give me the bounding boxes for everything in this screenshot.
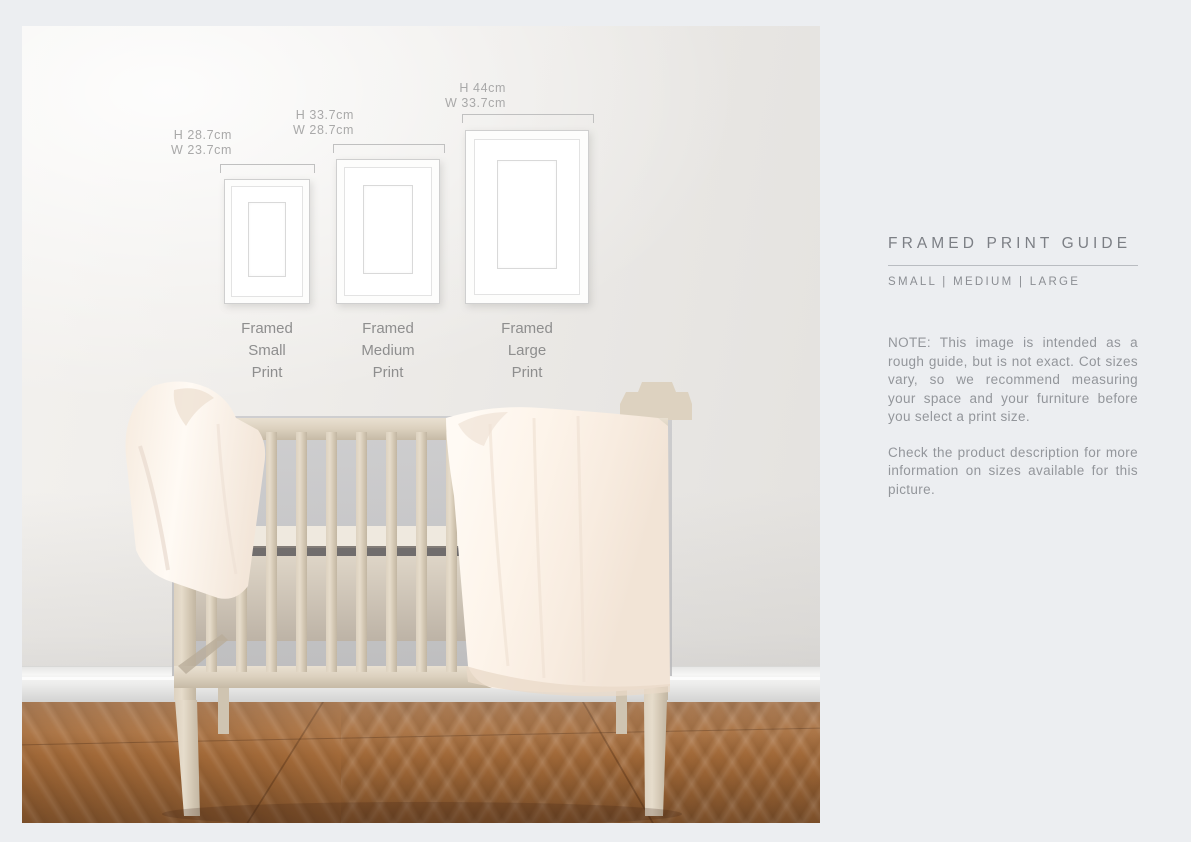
panel-subtitle: SMALL | MEDIUM | LARGE [888, 276, 1138, 288]
panel-title: FRAMED PRINT GUIDE [888, 235, 1138, 253]
panel-note-2: Check the product description for more i… [888, 444, 1138, 500]
cot-illustration [22, 26, 820, 823]
room-photo: H 28.7cm W 23.7cm Framed Small Print H 3… [22, 26, 820, 823]
panel-note-1: NOTE: This image is intended as a rough … [888, 334, 1138, 427]
panel-divider [888, 265, 1138, 266]
info-panel: FRAMED PRINT GUIDE SMALL | MEDIUM | LARG… [888, 0, 1138, 499]
